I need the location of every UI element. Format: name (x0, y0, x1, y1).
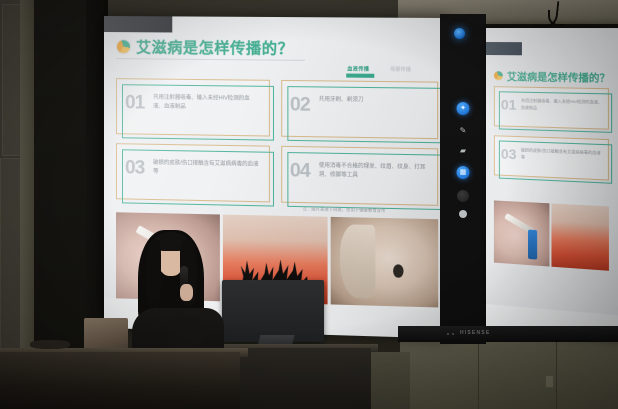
pointer-tool-icon[interactable]: ✦ (457, 102, 470, 115)
right-wall-cabinets (400, 338, 618, 409)
card-row-1: 01 共用注射器吸毒、输入未经HIV检测的血液、血液制品 02 共用牙刷、剃须刀 (116, 78, 438, 139)
secondary-top-shadow (486, 42, 522, 55)
desk-object-flat (30, 340, 70, 349)
ribbon-logo-icon (494, 71, 503, 80)
front-desk (0, 352, 240, 409)
card-number: 03 (501, 147, 517, 162)
wall-socket (545, 375, 554, 388)
secondary-card-01: 01 共用注射器吸毒、输入未经HIV检测的血液、血液制品 (494, 86, 609, 130)
secondary-photo-strip (494, 200, 609, 270)
card-number: 02 (290, 95, 310, 115)
annotation-toolbar[interactable]: ✦ ✎ ▰ ▦ (440, 14, 486, 344)
display-brand-label: HISENSE (460, 330, 490, 336)
more-options-icon[interactable] (457, 190, 469, 202)
card-row-2: 03 破损的皮肤/伤口接触含有艾滋病病毒的血液等 04 使用消毒不合格的理发、纹… (116, 143, 438, 206)
card-number: 03 (125, 158, 144, 177)
card-text: 共用注射器吸毒、输入未经HIV检测的血液、血液制品 (521, 98, 603, 114)
card-number: 01 (501, 97, 517, 111)
transmission-card-grid: 01 共用注射器吸毒、输入未经HIV检测的血液、血液制品 02 共用牙刷、剃须刀… (116, 78, 438, 215)
card-03: 03 破损的皮肤/伤口接触含有艾滋病病毒的血液等 (116, 143, 269, 202)
card-number: 01 (125, 93, 144, 112)
photo-tattoo-on-back (551, 203, 608, 270)
screenshot-scene: 艾滋病是怎样传播的？ 血液传播 母婴传播 01 共用注射器吸毒、输入未经HIV检… (0, 0, 618, 409)
cabinet-seam-2 (556, 338, 557, 409)
secondary-display[interactable]: 艾滋病是怎样传播的？ 01 共用注射器吸毒、输入未经HIV检测的血液、血液制品 … (486, 28, 618, 340)
apps-grid-icon[interactable]: ▦ (457, 166, 470, 179)
photo-ear-piercing (331, 217, 438, 308)
screen-top-shadow (104, 16, 172, 32)
eraser-tool-glyph: ▰ (457, 144, 469, 156)
chalkboard-frame (20, 0, 34, 360)
card-02: 02 共用牙刷、剃须刀 (281, 80, 438, 139)
secondary-title: 艾滋病是怎样传播的？ (507, 68, 610, 85)
photo-syringe-drug-use (494, 200, 550, 266)
pen-tool-glyph: ✎ (457, 124, 469, 136)
pen-tool-icon[interactable]: ✎ (457, 124, 469, 136)
cabinet-seam-1 (478, 338, 479, 409)
slide-header: 艾滋病是怎样传播的？ (117, 36, 294, 59)
display-bezel (398, 326, 618, 342)
tab-active-indicator (346, 73, 374, 77)
toolbar-handle[interactable] (459, 210, 467, 218)
card-01: 01 共用注射器吸毒、输入未经HIV检测的血液、血液制品 (116, 78, 269, 136)
card-text: 共用牙刷、剃须刀 (319, 96, 429, 106)
card-text: 共用注射器吸毒、输入未经HIV检测的血液、血液制品 (153, 94, 260, 113)
secondary-card-list: 01 共用注射器吸毒、输入未经HIV检测的血液、血液制品 03 破损的皮肤/伤口… (494, 86, 609, 190)
card-text: 破损的皮肤/伤口接触含有艾滋病病毒的血液等 (521, 147, 603, 164)
eraser-tool-icon[interactable]: ▰ (457, 144, 469, 156)
hair-left-strand (146, 240, 161, 312)
secondary-card-03: 03 破损的皮肤/伤口接触含有艾滋病病毒的血液等 (494, 135, 609, 180)
hand (180, 284, 193, 301)
card-04: 04 使用消毒不合格的理发、纹眉、纹身、打耳洞、修脚等工具 (281, 146, 438, 206)
ribbon-logo-icon (117, 40, 130, 53)
pointer-tool-glyph: ✦ (460, 105, 466, 112)
photo-source-note: 注：图片来源于网络，仅用于健康教育宣传 (303, 206, 386, 214)
card-text: 使用消毒不合格的理发、纹眉、纹身、打耳洞、修脚等工具 (319, 162, 429, 182)
tab-mother-to-child[interactable]: 母婴传播 (390, 66, 411, 73)
power-led (454, 28, 465, 39)
card-text: 破损的皮肤/伤口接触含有艾滋病病毒的血液等 (153, 159, 260, 179)
bezel-indicator-dots (447, 333, 454, 335)
apps-grid-glyph: ▦ (460, 169, 467, 176)
card-number: 04 (290, 161, 310, 181)
secondary-header: 艾滋病是怎样传播的？ (494, 68, 610, 85)
page-title: 艾滋病是怎样传播的？ (136, 36, 294, 58)
tab-blood-transmission[interactable]: 血液传播 (347, 65, 369, 72)
